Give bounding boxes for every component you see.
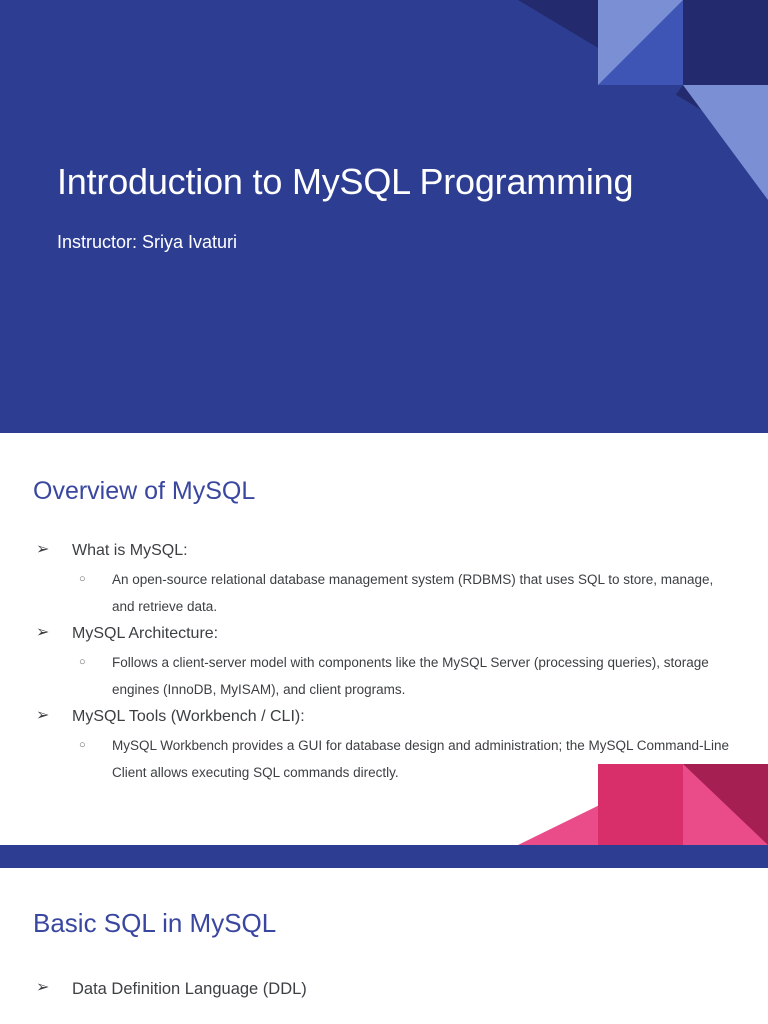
presentation-title: Introduction to MySQL Programming [57, 160, 747, 203]
bullet-item-level1: ➢ What is MySQL: [33, 538, 733, 564]
slide-title: Introduction to MySQL Programming Instru… [0, 0, 768, 433]
circle-bullet-icon: ○ [79, 566, 86, 593]
arrow-bullet-icon: ➢ [36, 703, 49, 729]
arrow-bullet-icon: ➢ [36, 537, 49, 563]
bullet-item-level1: ➢ Data Definition Language (DDL) [33, 976, 733, 1002]
basic-sql-bullet-list: ➢ Data Definition Language (DDL) [33, 976, 733, 1004]
bullet-label: Data Definition Language (DDL) [72, 980, 307, 998]
basic-sql-heading: Basic SQL in MySQL [33, 908, 276, 939]
overview-bullet-list: ➢ What is MySQL: ○ An open-source relati… [33, 538, 733, 787]
bullet-item-level2: ○ Follows a client-server model with com… [33, 649, 733, 703]
bullet-item-level1: ➢ MySQL Architecture: [33, 621, 733, 647]
circle-bullet-icon: ○ [79, 649, 86, 676]
bullet-text: An open-source relational database manag… [112, 572, 713, 614]
slide-basic-sql: Basic SQL in MySQL ➢ Data Definition Lan… [0, 868, 768, 1024]
presentation-subtitle: Instructor: Sriya Ivaturi [57, 232, 237, 253]
bullet-item-level2: ○ An open-source relational database man… [33, 566, 733, 620]
slide-divider-band [0, 845, 768, 868]
arrow-bullet-icon: ➢ [36, 620, 49, 646]
bullet-label: MySQL Architecture: [72, 625, 218, 642]
overview-heading: Overview of MySQL [33, 477, 255, 506]
bullet-text: Follows a client-server model with compo… [112, 655, 709, 697]
bullet-label: MySQL Tools (Workbench / CLI): [72, 708, 305, 725]
arrow-bullet-icon: ➢ [36, 975, 49, 1001]
decoration-pink-block [598, 764, 683, 845]
bullet-label: What is MySQL: [72, 542, 188, 559]
bullet-item-level1: ➢ MySQL Tools (Workbench / CLI): [33, 704, 733, 730]
circle-bullet-icon: ○ [79, 732, 86, 759]
slide-deck: Introduction to MySQL Programming Instru… [0, 0, 768, 1024]
decoration-navy-block [683, 0, 768, 85]
